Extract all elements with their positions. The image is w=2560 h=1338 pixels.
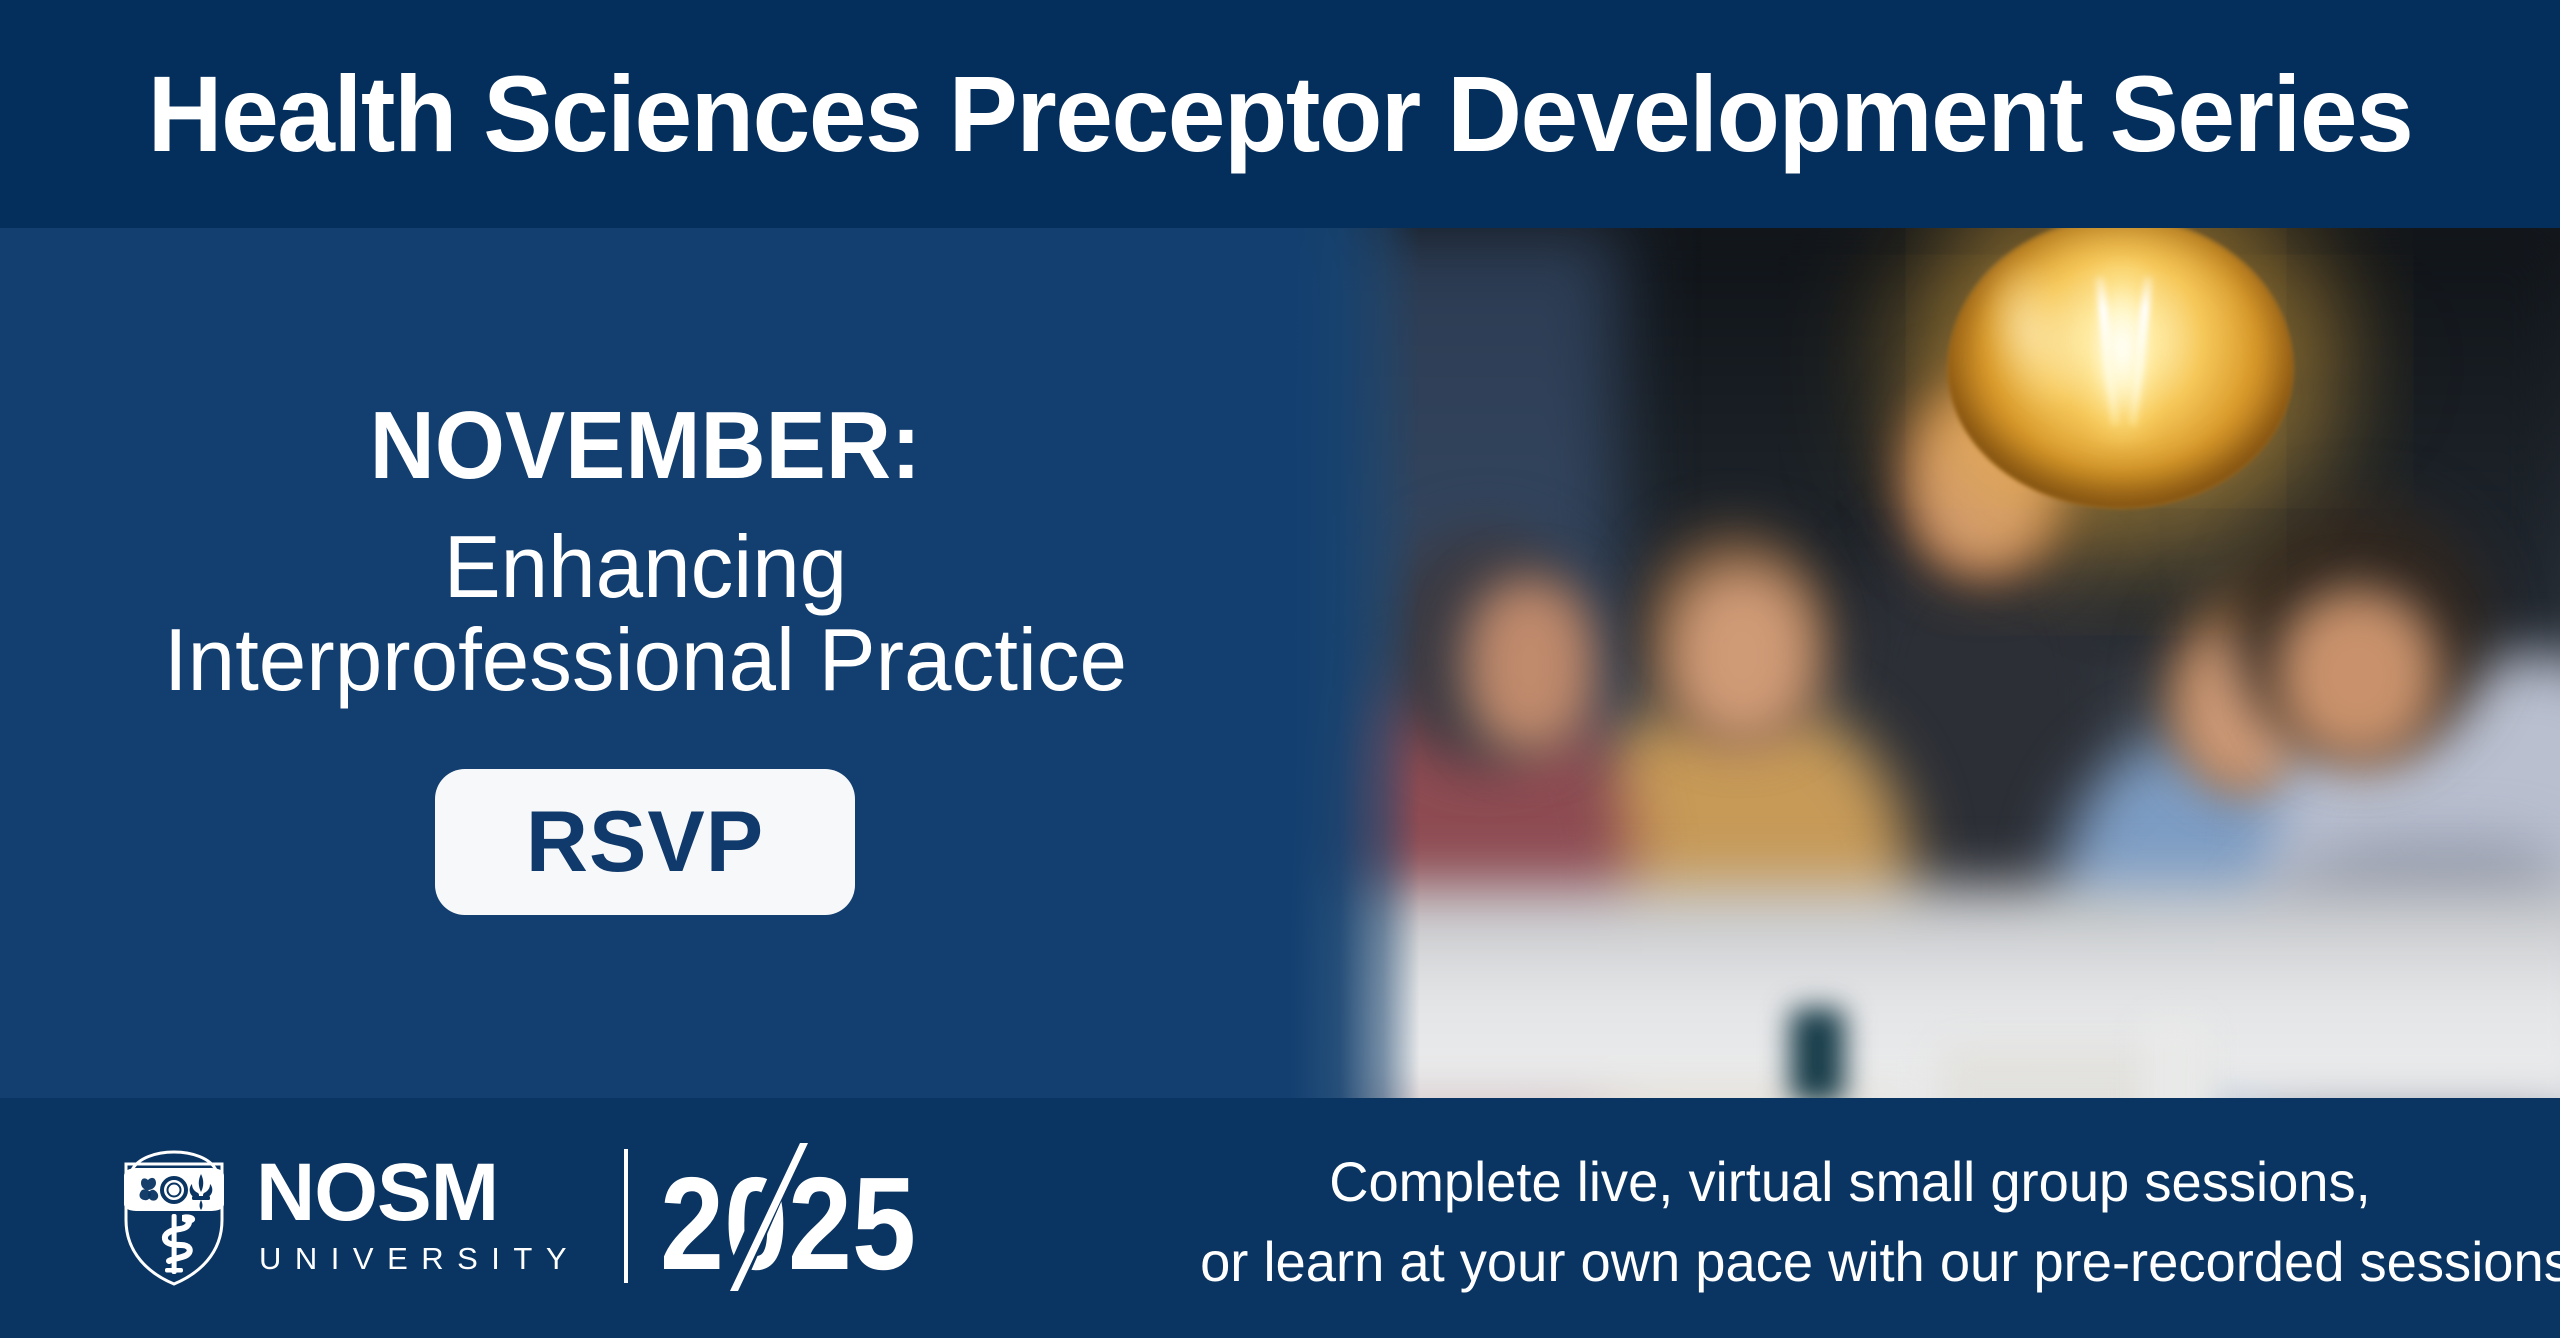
footer-note: Complete live, virtual small group sessi… xyxy=(1200,1142,2500,1301)
bulb-rim-shading xyxy=(1948,228,2293,508)
topic-line-1: Enhancing xyxy=(163,520,1126,613)
footer-band: NOSM UNIVERSITY 2025 xyxy=(0,1098,2560,1338)
nosm-university-wordmark: UNIVERSITY xyxy=(259,1241,580,1277)
logo-divider xyxy=(624,1149,628,1283)
nosm-shield-crest-icon xyxy=(118,1146,230,1286)
year-2025-logo: 2025 xyxy=(658,1141,918,1291)
nosm-logo-lockup[interactable]: NOSM UNIVERSITY 2025 xyxy=(118,1126,918,1306)
light-bulb-icon xyxy=(1940,228,2300,518)
photo-person-tan-face xyxy=(1670,568,1815,743)
topic-heading: Enhancing Interprofessional Practice xyxy=(163,520,1126,707)
photo-cup xyxy=(1790,1008,1845,1098)
nosm-wordmark: NOSM xyxy=(256,1155,580,1230)
header-band: Health Sciences Preceptor Development Se… xyxy=(0,0,2560,228)
panel-content: NOVEMBER: Enhancing Interprofessional Pr… xyxy=(0,228,1290,1098)
month-heading: NOVEMBER: xyxy=(369,398,920,494)
footer-note-line-1: Complete live, virtual small group sessi… xyxy=(1200,1142,2500,1222)
collaboration-photo xyxy=(1260,228,2560,1098)
rsvp-button[interactable]: RSVP xyxy=(435,769,855,915)
page-title: Health Sciences Preceptor Development Se… xyxy=(51,0,2509,228)
photo-person-maroon-face xyxy=(1465,578,1595,753)
panel-photo-gradient xyxy=(1290,228,1420,1098)
hero-section: NOVEMBER: Enhancing Interprofessional Pr… xyxy=(0,228,2560,1098)
photo-glass xyxy=(2140,1018,2210,1098)
topic-line-2: Interprofessional Practice xyxy=(163,613,1126,706)
footer-note-line-2: or learn at your own pace with our pre-r… xyxy=(1200,1222,2500,1302)
photo-person-foreground-face xyxy=(2275,588,2440,763)
nosm-wordmark-group: NOSM UNIVERSITY xyxy=(256,1155,580,1276)
photo-table-surface xyxy=(1260,858,2560,1098)
promotional-banner: NOVEMBER: Enhancing Interprofessional Pr… xyxy=(0,0,2560,1338)
